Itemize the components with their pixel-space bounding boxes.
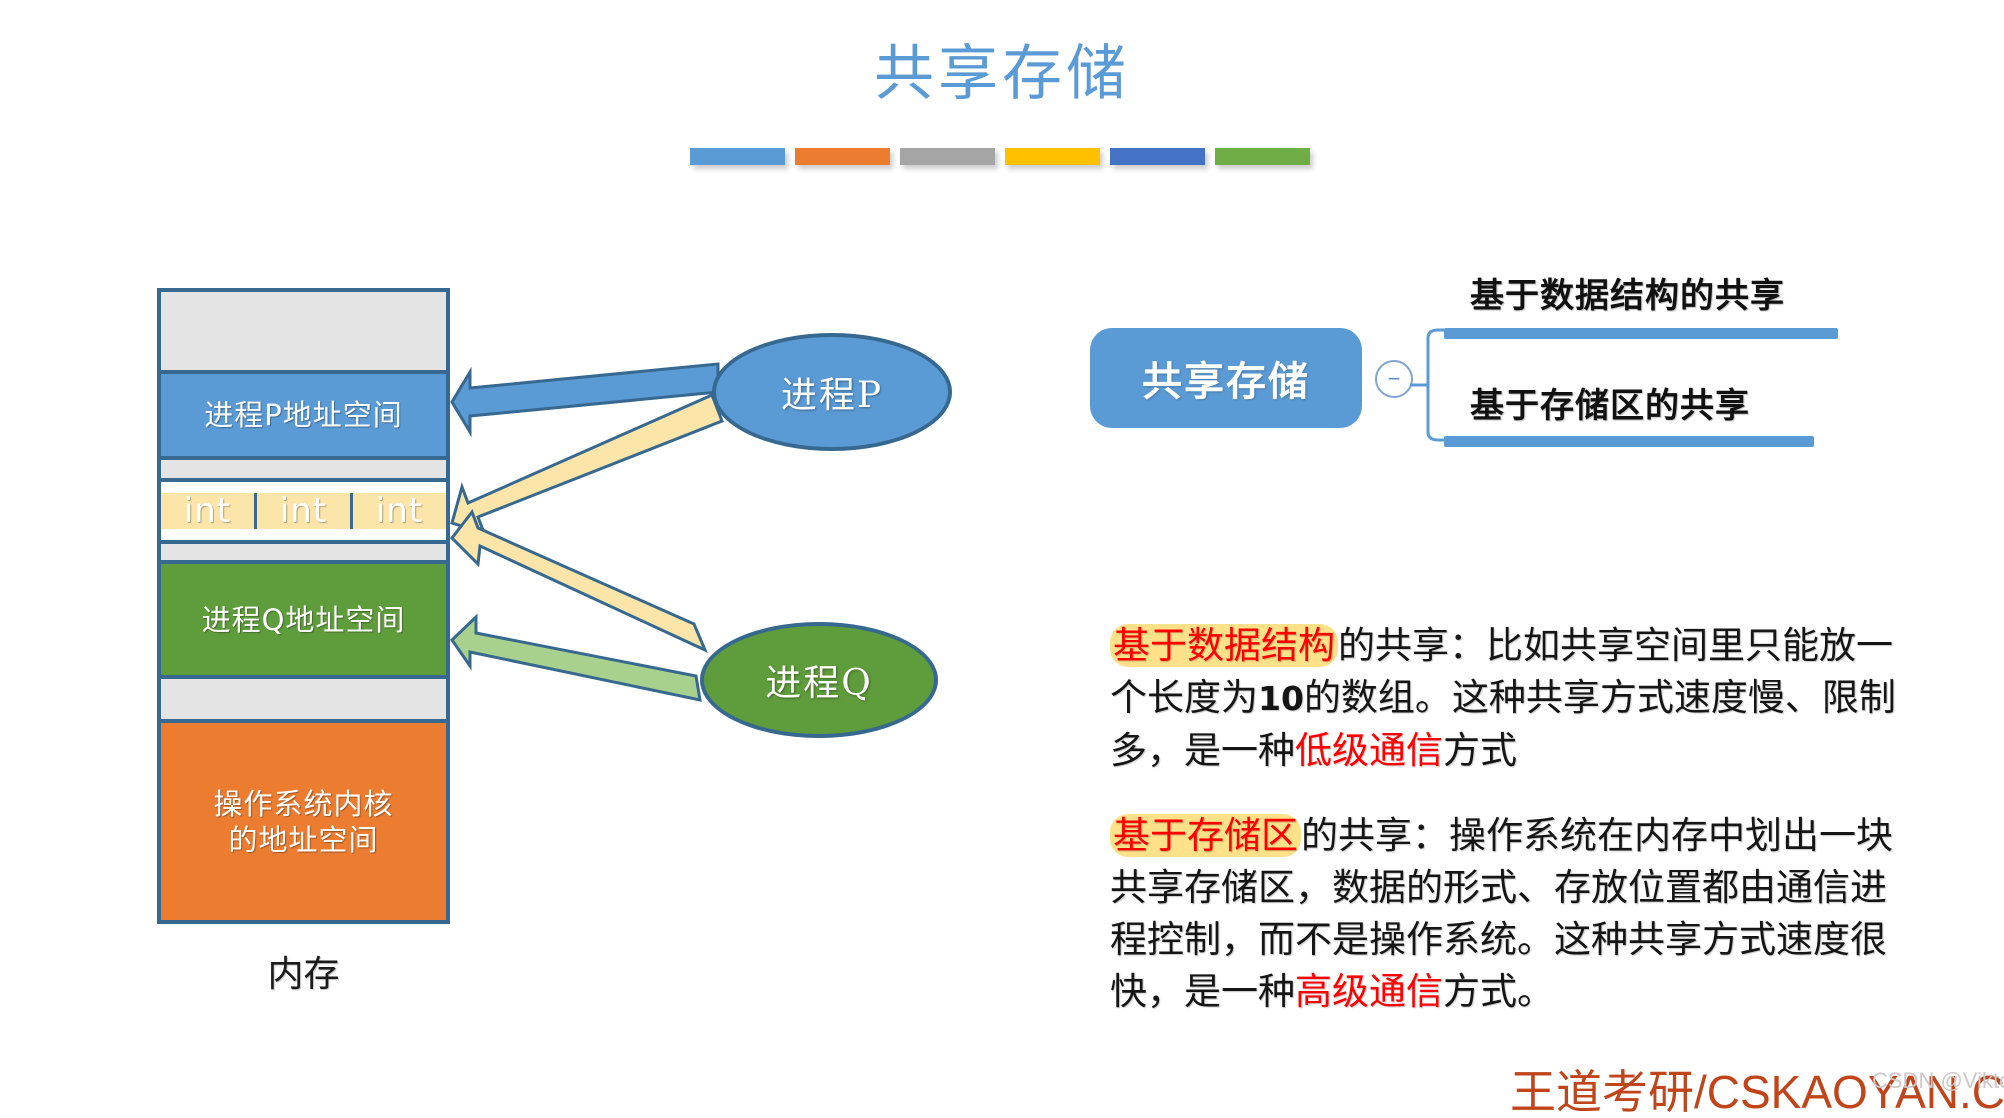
memory-segment-gap-2 bbox=[161, 460, 446, 478]
paragraph-storage-area-sharing: 基于存储区的共享：操作系统在内存中划出一块共享存储区，数据的形式、存放位置都由通… bbox=[1110, 810, 1900, 1018]
mindmap: 共享存储 − 基于数据结构的共享 基于存储区的共享 bbox=[1090, 270, 1880, 460]
arrow-q-to-shared-int bbox=[452, 512, 705, 650]
p2-red-term: 高级通信 bbox=[1295, 970, 1443, 1013]
int-cell: int bbox=[257, 493, 353, 529]
process-q-node: 进程Q bbox=[700, 622, 938, 738]
arrow-p-to-address-space bbox=[452, 364, 718, 432]
mindmap-root-node[interactable]: 共享存储 bbox=[1090, 328, 1362, 428]
arrow-q-to-address-space bbox=[452, 617, 700, 700]
title-rule-bars bbox=[690, 148, 1330, 166]
rule-segment-5 bbox=[1110, 148, 1205, 165]
mindmap-leaf-data-structure[interactable]: 基于数据结构的共享 bbox=[1470, 268, 1785, 317]
p1-red-term: 低级通信 bbox=[1295, 729, 1443, 772]
memory-segment-process-q: 进程Q地址空间 bbox=[161, 560, 446, 679]
rule-segment-6 bbox=[1215, 148, 1310, 165]
memory-segment-process-p: 进程P地址空间 bbox=[161, 370, 446, 460]
p1-number: 10 bbox=[1258, 679, 1304, 718]
memory-segment-gap-3 bbox=[161, 544, 446, 560]
csdn-watermark: CSDN @Viktoriae bbox=[1872, 1068, 2004, 1094]
highlight-storage-area: 基于存储区 bbox=[1110, 814, 1301, 857]
int-cell: int bbox=[353, 493, 446, 529]
mindmap-underline-2 bbox=[1444, 436, 1814, 447]
memory-segment-free-top bbox=[161, 292, 446, 370]
page-title: 共享存储 bbox=[0, 38, 2004, 110]
mindmap-leaf-storage-area[interactable]: 基于存储区的共享 bbox=[1470, 378, 1750, 427]
slide-canvas: 共享存储 进程P地址空间 int int int 进程Q地址空间 操作系统内核 … bbox=[0, 0, 2004, 1118]
arrow-p-to-shared-int bbox=[452, 395, 722, 533]
rule-segment-3 bbox=[900, 148, 995, 165]
memory-segment-gap-4 bbox=[161, 679, 446, 719]
highlight-data-structure: 基于数据结构 bbox=[1110, 624, 1338, 667]
memory-segment-os-kernel: 操作系统内核 的地址空间 bbox=[161, 719, 446, 920]
os-kernel-line-1: 操作系统内核 bbox=[213, 786, 393, 822]
process-p-node: 进程P bbox=[712, 333, 952, 451]
rule-segment-2 bbox=[795, 148, 890, 165]
mindmap-underline-1 bbox=[1444, 328, 1838, 339]
os-kernel-line-2: 的地址空间 bbox=[228, 822, 378, 858]
memory-diagram: 进程P地址空间 int int int 进程Q地址空间 操作系统内核 的地址空间 bbox=[157, 288, 450, 924]
mindmap-branch-lines bbox=[1408, 320, 1468, 450]
int-cell: int bbox=[161, 493, 257, 529]
memory-caption: 内存 bbox=[157, 945, 450, 997]
paragraph-data-structure-sharing: 基于数据结构的共享：比如共享空间里只能放一个长度为10的数组。这种共享方式速度慢… bbox=[1110, 620, 1900, 777]
p2-text-b: 方式。 bbox=[1443, 970, 1554, 1013]
memory-segment-shared-ints: int int int bbox=[161, 478, 446, 544]
p1-text-c: 方式 bbox=[1443, 729, 1517, 772]
rule-segment-4 bbox=[1005, 148, 1100, 165]
rule-segment-1 bbox=[690, 148, 785, 165]
